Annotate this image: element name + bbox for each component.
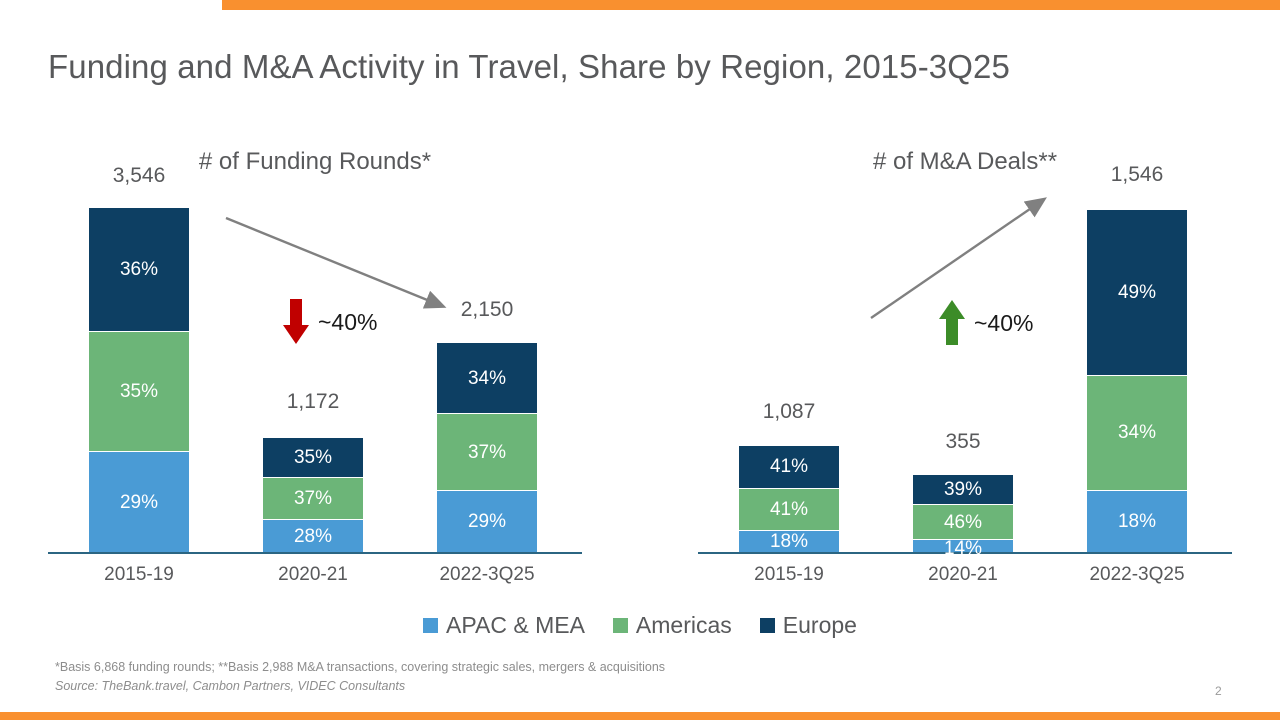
bar-segment-label: 49%: [1118, 283, 1156, 302]
bar-segment-americas[interactable]: 35%: [89, 332, 189, 452]
bar-segment-label: 14%: [944, 539, 982, 558]
bar-segment-apac-mea[interactable]: 29%: [89, 452, 189, 552]
bar-segment-label: 35%: [120, 382, 158, 401]
bar-group-mna-2022-3q25: 1,546 49% 34% 18%: [1087, 167, 1187, 552]
callout-label: ~40%: [318, 309, 377, 336]
x-axis-category-label: 2022-3Q25: [1087, 564, 1187, 586]
bar-segment-label: 39%: [944, 480, 982, 499]
bar-segment-apac-mea[interactable]: 28%: [263, 520, 363, 552]
chart-panel-funding-rounds: # of Funding Rounds* 3,546 36% 35% 29%: [45, 130, 585, 590]
stacked-bar[interactable]: 34% 37% 29%: [437, 343, 537, 552]
top-accent-bar: [222, 0, 1280, 10]
bar-segment-americas[interactable]: 41%: [739, 489, 839, 532]
bar-segment-europe[interactable]: 36%: [89, 208, 189, 332]
bar-segment-apac-mea[interactable]: 14%: [913, 540, 1013, 552]
footnotes: *Basis 6,868 funding rounds; **Basis 2,9…: [55, 658, 665, 697]
bar-total-label: 3,546: [89, 164, 189, 188]
bar-segment-americas[interactable]: 34%: [1087, 376, 1187, 491]
x-axis-category-label: 2020-21: [263, 564, 363, 586]
bar-total-label: 1,172: [263, 390, 363, 414]
footnote-source: Source: TheBank.travel, Cambon Partners,…: [55, 677, 665, 696]
bar-segment-label: 36%: [120, 260, 158, 279]
bar-segment-label: 28%: [294, 527, 332, 546]
plot-area-mna-deals: 1,087 41% 41% 18% 2015-19 355: [695, 130, 1235, 590]
bar-segment-europe[interactable]: 35%: [263, 438, 363, 478]
bar-segment-label: 41%: [770, 500, 808, 519]
bar-segment-label: 41%: [770, 457, 808, 476]
page-title: Funding and M&A Activity in Travel, Shar…: [48, 48, 1010, 86]
bar-segment-americas[interactable]: 37%: [263, 478, 363, 520]
stacked-bar[interactable]: 39% 46% 14%: [913, 475, 1013, 552]
down-arrow-icon: [283, 299, 309, 345]
bar-group-mna-2015-19: 1,087 41% 41% 18%: [739, 404, 839, 552]
bar-group-mna-2020-21: 355 39% 46% 14%: [913, 434, 1013, 552]
page-number: 2: [1215, 684, 1222, 698]
bar-segment-label: 46%: [944, 513, 982, 532]
bar-group-funding-2015-19: 3,546 36% 35% 29%: [89, 168, 189, 552]
bar-segment-apac-mea[interactable]: 18%: [1087, 491, 1187, 552]
x-axis-line: [48, 552, 582, 554]
stacked-bar[interactable]: 49% 34% 18%: [1087, 210, 1187, 552]
legend-swatch-apac-mea: [423, 618, 438, 633]
bar-segment-europe[interactable]: 34%: [437, 343, 537, 414]
bar-group-funding-2020-21: 1,172 35% 37% 28%: [263, 394, 363, 552]
plot-area-funding-rounds: 3,546 36% 35% 29% 2015-19 1,172: [45, 130, 585, 590]
legend-swatch-americas: [613, 618, 628, 633]
callout-label: ~40%: [974, 310, 1033, 337]
stacked-bar[interactable]: 36% 35% 29%: [89, 208, 189, 552]
footnote-basis: *Basis 6,868 funding rounds; **Basis 2,9…: [55, 658, 665, 677]
bar-segment-americas[interactable]: 37%: [437, 414, 537, 491]
bar-total-label: 1,087: [739, 400, 839, 424]
x-axis-category-label: 2015-19: [739, 564, 839, 586]
x-axis-category-label: 2022-3Q25: [437, 564, 537, 586]
bar-total-label: 1,546: [1087, 163, 1187, 187]
legend-item-apac-mea[interactable]: APAC & MEA: [423, 612, 585, 639]
slide-canvas: Funding and M&A Activity in Travel, Shar…: [0, 0, 1280, 720]
bar-segment-europe[interactable]: 41%: [739, 446, 839, 489]
legend-swatch-europe: [760, 618, 775, 633]
bar-segment-label: 37%: [294, 489, 332, 508]
legend-item-europe[interactable]: Europe: [760, 612, 857, 639]
bar-segment-apac-mea[interactable]: 18%: [739, 531, 839, 552]
bar-segment-americas[interactable]: 46%: [913, 505, 1013, 540]
bar-group-funding-2022-3q25: 2,150 34% 37% 29%: [437, 302, 537, 552]
stacked-bar[interactable]: 35% 37% 28%: [263, 438, 363, 552]
bar-segment-europe[interactable]: 39%: [913, 475, 1013, 505]
x-axis-category-label: 2020-21: [913, 564, 1013, 586]
bar-segment-label: 29%: [120, 493, 158, 512]
bar-segment-europe[interactable]: 49%: [1087, 210, 1187, 376]
callout-funding-decline: ~40%: [283, 299, 377, 345]
bar-segment-label: 37%: [468, 443, 506, 462]
bar-segment-label: 35%: [294, 448, 332, 467]
legend-label: Americas: [636, 612, 732, 639]
bar-segment-label: 29%: [468, 512, 506, 531]
stacked-bar[interactable]: 41% 41% 18%: [739, 446, 839, 552]
bar-total-label: 2,150: [437, 298, 537, 322]
bar-total-label: 355: [913, 430, 1013, 454]
bar-segment-label: 18%: [1118, 512, 1156, 531]
bottom-accent-bar: [0, 712, 1280, 720]
bar-segment-label: 34%: [1118, 423, 1156, 442]
bar-segment-label: 18%: [770, 532, 808, 551]
chart-legend: APAC & MEA Americas Europe: [0, 612, 1280, 639]
bar-segment-label: 34%: [468, 369, 506, 388]
legend-item-americas[interactable]: Americas: [613, 612, 732, 639]
chart-panel-mna-deals: # of M&A Deals** 1,087 41% 41% 18%: [695, 130, 1235, 590]
bar-segment-apac-mea[interactable]: 29%: [437, 491, 537, 552]
x-axis-category-label: 2015-19: [89, 564, 189, 586]
callout-mna-growth: ~40%: [939, 300, 1033, 346]
legend-label: Europe: [783, 612, 857, 639]
legend-label: APAC & MEA: [446, 612, 585, 639]
up-arrow-icon: [939, 300, 965, 346]
